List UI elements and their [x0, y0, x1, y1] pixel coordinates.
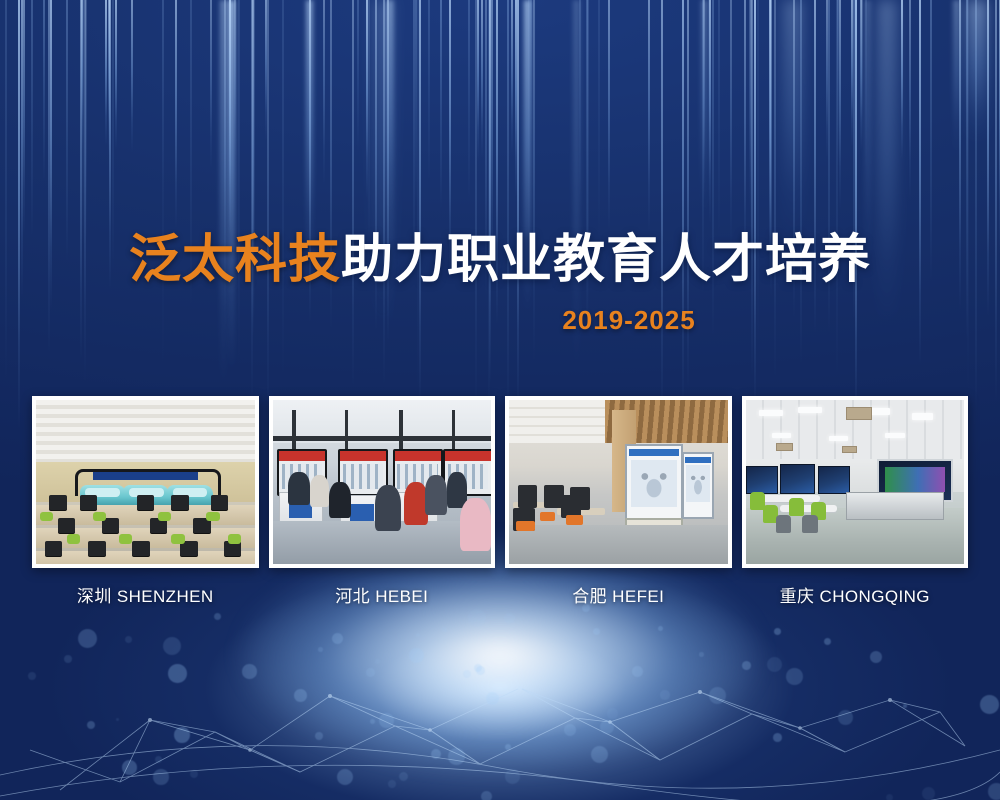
photo-hefei: [509, 400, 728, 564]
gallery-captions: 深圳 SHENZHEN 河北 HEBEI 合肥 HEFEI 重庆 CHONGQI…: [32, 582, 968, 608]
headline-rest: 助力职业教育人才培养: [341, 231, 871, 289]
photo-hebei: [273, 400, 492, 564]
network-mesh-overlay: [0, 600, 1000, 800]
gallery-card[interactable]: [32, 396, 259, 568]
caption-chongqing: 重庆 CHONGQING: [742, 582, 969, 608]
photo-shenzhen: [36, 400, 255, 564]
page-title: 泛太科技助力职业教育人才培养: [0, 232, 1000, 288]
light-rays-background: [0, 0, 1000, 430]
caption-hefei: 合肥 HEFEI: [505, 582, 732, 608]
banner-poster: 泛太科技助力职业教育人才培养 2019-2025: [0, 0, 1000, 800]
caption-shenzhen: 深圳 SHENZHEN: [32, 582, 259, 608]
year-range: 2019-2025: [0, 305, 1000, 336]
gallery-card[interactable]: [742, 396, 969, 568]
photo-chongqing: [746, 400, 965, 564]
gallery-card[interactable]: [505, 396, 732, 568]
gallery-card[interactable]: [269, 396, 496, 568]
caption-hebei: 河北 HEBEI: [269, 582, 496, 608]
brand-name: 泛太科技: [129, 231, 341, 289]
photo-gallery: [32, 396, 968, 568]
